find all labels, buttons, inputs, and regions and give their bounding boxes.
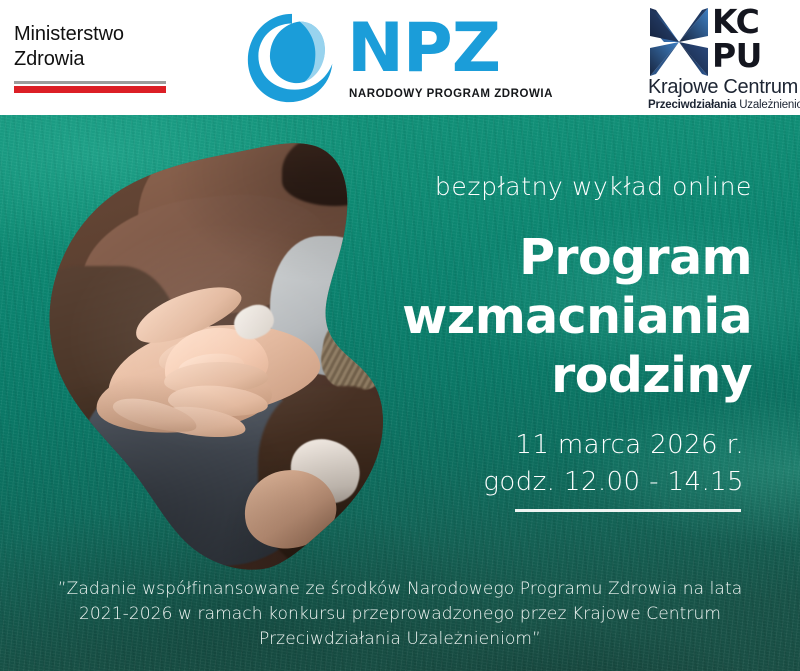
kcpu-x-mark-icon: [648, 6, 710, 78]
headline-line-2: wzmacniania: [322, 287, 752, 346]
event-time: godz. 12.00 - 14.15: [324, 464, 744, 501]
kcpu-tagline-bold: Przeciwdziałania: [648, 99, 736, 111]
kicker-text: bezpłatny wykład online: [435, 172, 752, 202]
event-datetime: 11 marca 2026 r. godz. 12.00 - 14.15: [324, 427, 744, 501]
npz-leaf-icon: [243, 10, 341, 106]
page-title: Program wzmacniania rodziny: [322, 228, 752, 405]
ministry-red-rule: [14, 86, 166, 93]
poster-canvas: ★ bezpłatny wykład online Program wzmacn…: [0, 0, 800, 671]
kcpu-tagline: Przeciwdziałania Uzależnieniom: [648, 99, 800, 112]
divider-rule: [515, 509, 741, 512]
npz-logo: NPZ NARODOWY PROGRAM ZDROWIA: [243, 8, 543, 108]
headline-line-3: rodziny: [322, 346, 752, 405]
ministry-line-1: Ministerstwo: [14, 22, 182, 47]
kcpu-logo: KC PU Krajowe Centrum Przeciwdziałania U…: [648, 6, 790, 110]
ministry-of-health-logo: Ministerstwo Zdrowia: [14, 22, 182, 93]
kcpu-letters-pu: PU: [712, 39, 762, 73]
kcpu-letters: KC PU: [712, 5, 762, 73]
logo-header-bar: Ministerstwo Zdrowia NPZ NARODOWY PROGRA…: [0, 0, 800, 115]
npz-wordmark: NPZ: [347, 14, 500, 84]
ministry-gray-rule: [14, 81, 166, 84]
ministry-line-2: Zdrowia: [14, 47, 182, 72]
kcpu-letters-kc: KC: [712, 5, 762, 39]
funding-footnote: ”Zadanie współfinansowane ze środków Nar…: [0, 577, 800, 652]
kcpu-tagline-regular: Uzależnieniom: [739, 99, 800, 111]
npz-subtitle: NARODOWY PROGRAM ZDROWIA: [349, 88, 553, 100]
kcpu-name: Krajowe Centrum: [648, 77, 798, 98]
headline-line-1: Program: [322, 228, 752, 287]
poster-content: bezpłatny wykład online Program wzmacnia…: [0, 115, 800, 671]
event-date: 11 marca 2026 r.: [324, 427, 744, 464]
